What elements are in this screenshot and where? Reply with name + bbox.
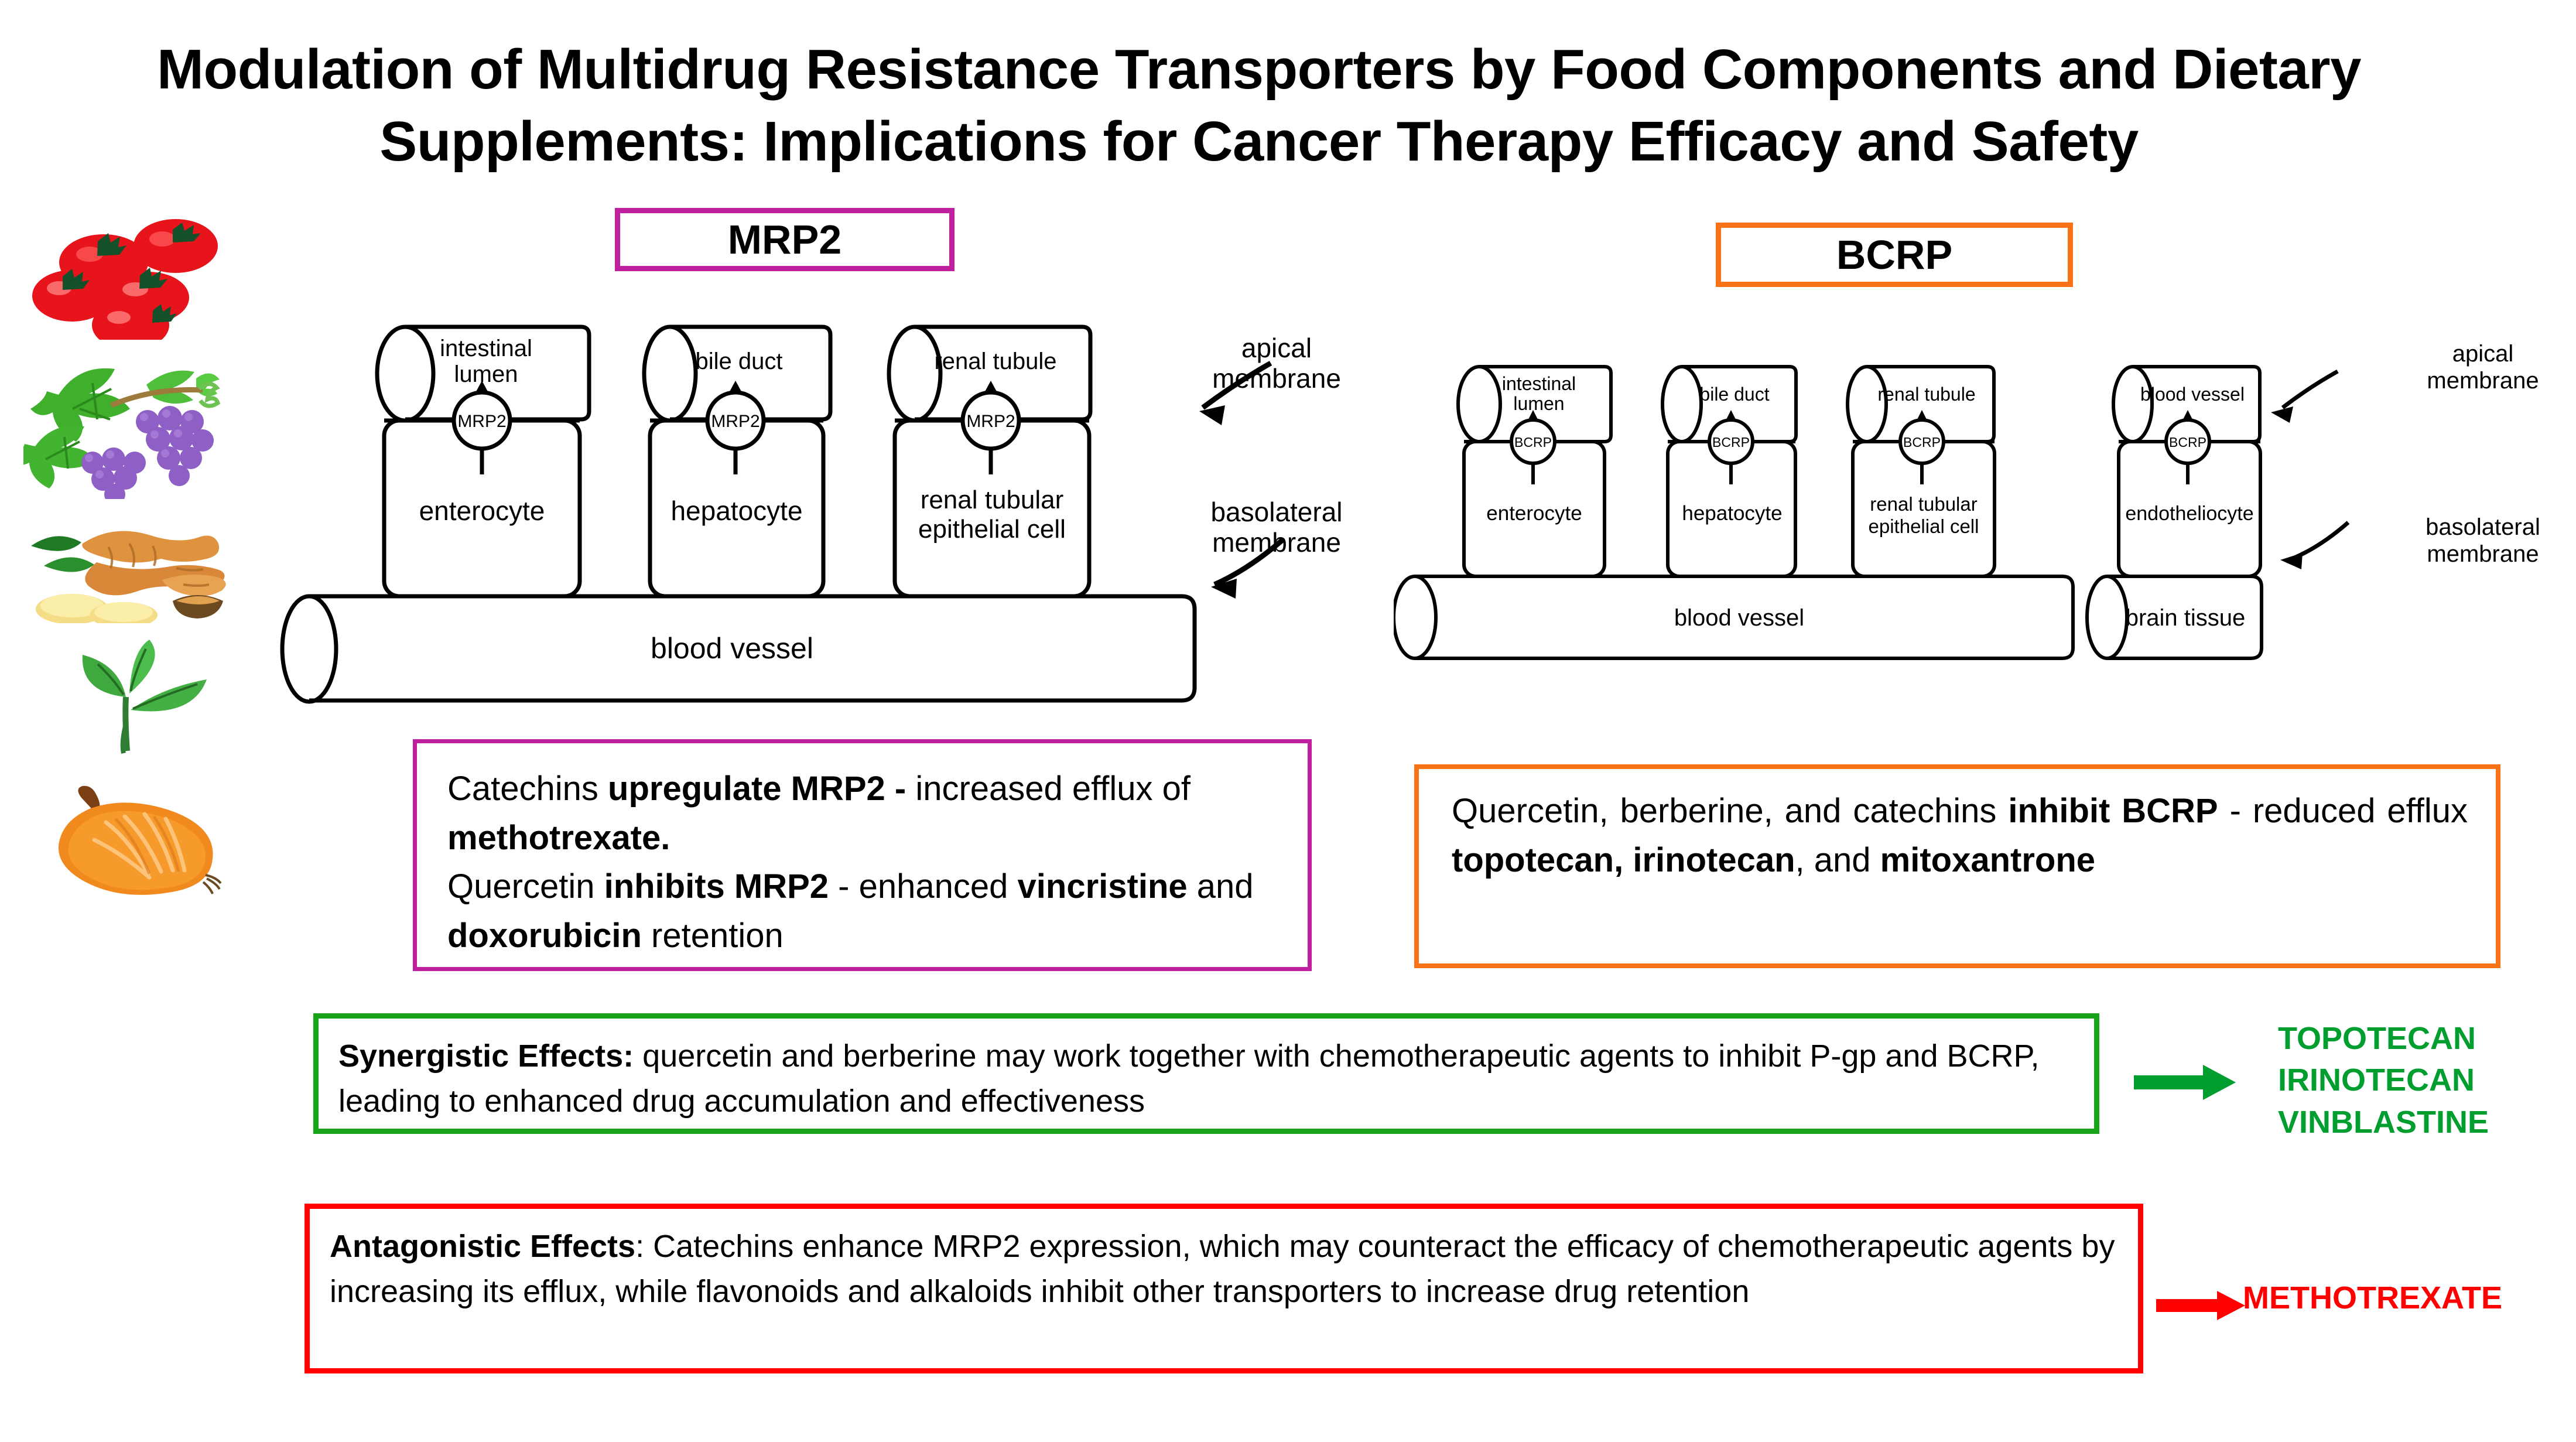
mrp2-s2-e: and — [1188, 867, 1254, 905]
mrp2-s1-c: increased efflux of — [915, 770, 1190, 808]
antagonistic-label: Antagonistic Effects — [330, 1229, 635, 1264]
mrp2-statement-box: Catechins upregulate MRP2 - increased ef… — [413, 739, 1312, 971]
bcrp-transporter-label-3: BCRP — [1903, 435, 1941, 450]
bcrp-s-d: topotecan, irinotecan — [1452, 841, 1795, 879]
antagonistic-effects-box: Antagonistic Effects: Catechins enhance … — [305, 1204, 2143, 1373]
bcrp-basolateral-arrowhead — [2280, 553, 2303, 569]
bcrp-s-a: Quercetin, berberine, and catechins — [1452, 792, 2008, 830]
bcrp-transport-diagram: BCRP BCRP BCRP BCRP intestinal lumen bil… — [1394, 351, 2389, 703]
tea-leaves-illustration — [32, 636, 225, 771]
mrp2-s2-c: - enhanced — [829, 867, 1017, 905]
bcrp-cell-label-4: endotheliocyte — [2125, 503, 2253, 525]
bcrp-s-b: inhibit BCRP — [2008, 792, 2218, 830]
mrp2-s2-a: Quercetin — [447, 867, 604, 905]
mrp2-apical-arrowhead — [1199, 405, 1225, 425]
bcrp-basolateral-arrow — [2292, 522, 2348, 559]
title-line-2: Supplements: Implications for Cancer The… — [0, 106, 2518, 178]
mrp2-apical-membrane-label: apicalmembrane — [1183, 333, 1370, 394]
antagonistic-arrow — [2155, 1283, 2249, 1324]
mrp2-tube-label-1: intestinal — [440, 336, 532, 361]
mrp2-s2-f: doxorubicin — [447, 917, 642, 955]
mrp2-cell-label-3b: epithelial cell — [918, 515, 1066, 544]
bcrp-statement-box: Quercetin, berberine, and catechins inhi… — [1414, 764, 2500, 968]
bcrp-cell-label-3b: epithelial cell — [1869, 515, 1979, 537]
mrp2-s1-d: methotrexate. — [447, 819, 670, 857]
title-line-1: Modulation of Multidrug Resistance Trans… — [0, 34, 2518, 106]
mrp2-transporter-label-1: MRP2 — [457, 412, 506, 431]
bcrp-vessel-label: blood vessel — [1674, 605, 1804, 631]
mrp2-basolateral-membrane-label: basolateralmembrane — [1174, 497, 1379, 558]
bcrp-cell-label-2: hepatocyte — [1682, 502, 1782, 525]
bcrp-header-box: BCRP — [1716, 223, 2073, 287]
bcrp-tube-label-3: renal tubule — [1877, 384, 1975, 405]
mrp2-tube-label-3: renal tubule — [934, 348, 1056, 374]
ginger-illustration — [26, 512, 231, 623]
synergistic-drug-0: TOPOTECAN — [2278, 1018, 2571, 1060]
synergistic-arrow — [2132, 1054, 2243, 1107]
mrp2-s1-b: upregulate MRP2 - — [608, 770, 915, 808]
bcrp-tube-label-1: intestinal — [1502, 373, 1576, 394]
bcrp-header-label: BCRP — [1836, 231, 1952, 278]
bcrp-s-c: - reduced efflux — [2218, 792, 2468, 830]
mrp2-cell-label-1: enterocyte — [419, 496, 545, 526]
mrp2-tube-label-2: bile duct — [696, 348, 783, 374]
mrp2-cell-label-2: hepatocyte — [670, 496, 802, 526]
onion-illustration — [32, 784, 225, 895]
bcrp-tube-label-4: blood vessel — [2140, 384, 2245, 405]
synergistic-label: Synergistic Effects: — [338, 1038, 634, 1074]
mrp2-s2-g: retention — [642, 917, 784, 955]
grapes-illustration — [23, 353, 234, 499]
mrp2-vessel-label: blood vessel — [651, 632, 813, 665]
mrp2-cell-label-3: renal tubular — [921, 486, 1064, 514]
bcrp-apical-arrowhead — [2271, 406, 2293, 423]
bcrp-apical-arrow — [2283, 371, 2338, 408]
bcrp-tube-label-2: bile duct — [1699, 384, 1769, 405]
bcrp-tube-label-1b: lumen — [1513, 393, 1564, 414]
mrp2-header-label: MRP2 — [728, 216, 841, 263]
mrp2-s2-b: inhibits MRP2 — [604, 867, 829, 905]
antagonistic-drug-label: METHOTREXATE — [2243, 1280, 2571, 1316]
bcrp-transporter-label-1: BCRP — [1514, 435, 1552, 450]
bcrp-apical-membrane-label: apicalmembrane — [2395, 341, 2571, 394]
page-title: Modulation of Multidrug Resistance Trans… — [0, 34, 2518, 178]
synergistic-drug-1: IRINOTECAN — [2278, 1060, 2571, 1101]
mrp2-transporter-label-3: MRP2 — [966, 412, 1015, 431]
bcrp-brain-label: brain tissue — [2126, 605, 2246, 631]
mrp2-s1-a: Catechins — [447, 770, 608, 808]
tomatoes-illustration — [32, 217, 225, 340]
mrp2-transporter-label-2: MRP2 — [711, 412, 760, 431]
bcrp-transporter-label-4: BCRP — [2169, 435, 2206, 450]
mrp2-tube-label-1b: lumen — [454, 361, 518, 387]
mrp2-header-box: MRP2 — [615, 208, 955, 271]
synergistic-drug-list: TOPOTECAN IRINOTECAN VINBLASTINE — [2278, 1018, 2571, 1143]
bcrp-cell-label-1: enterocyte — [1486, 502, 1582, 525]
synergistic-effects-box: Synergistic Effects: quercetin and berbe… — [313, 1013, 2099, 1134]
bcrp-s-e: , and — [1795, 841, 1880, 879]
mrp2-s2-d: vincristine — [1018, 867, 1188, 905]
food-illustration-column — [6, 217, 252, 908]
bcrp-basolateral-membrane-label: basolateralmembrane — [2389, 514, 2576, 568]
bcrp-cell-label-3: renal tubular — [1870, 493, 1977, 515]
synergistic-drug-2: VINBLASTINE — [2278, 1102, 2571, 1143]
bcrp-transporter-label-2: BCRP — [1712, 435, 1750, 450]
bcrp-s-f: mitoxantrone — [1880, 841, 2095, 879]
